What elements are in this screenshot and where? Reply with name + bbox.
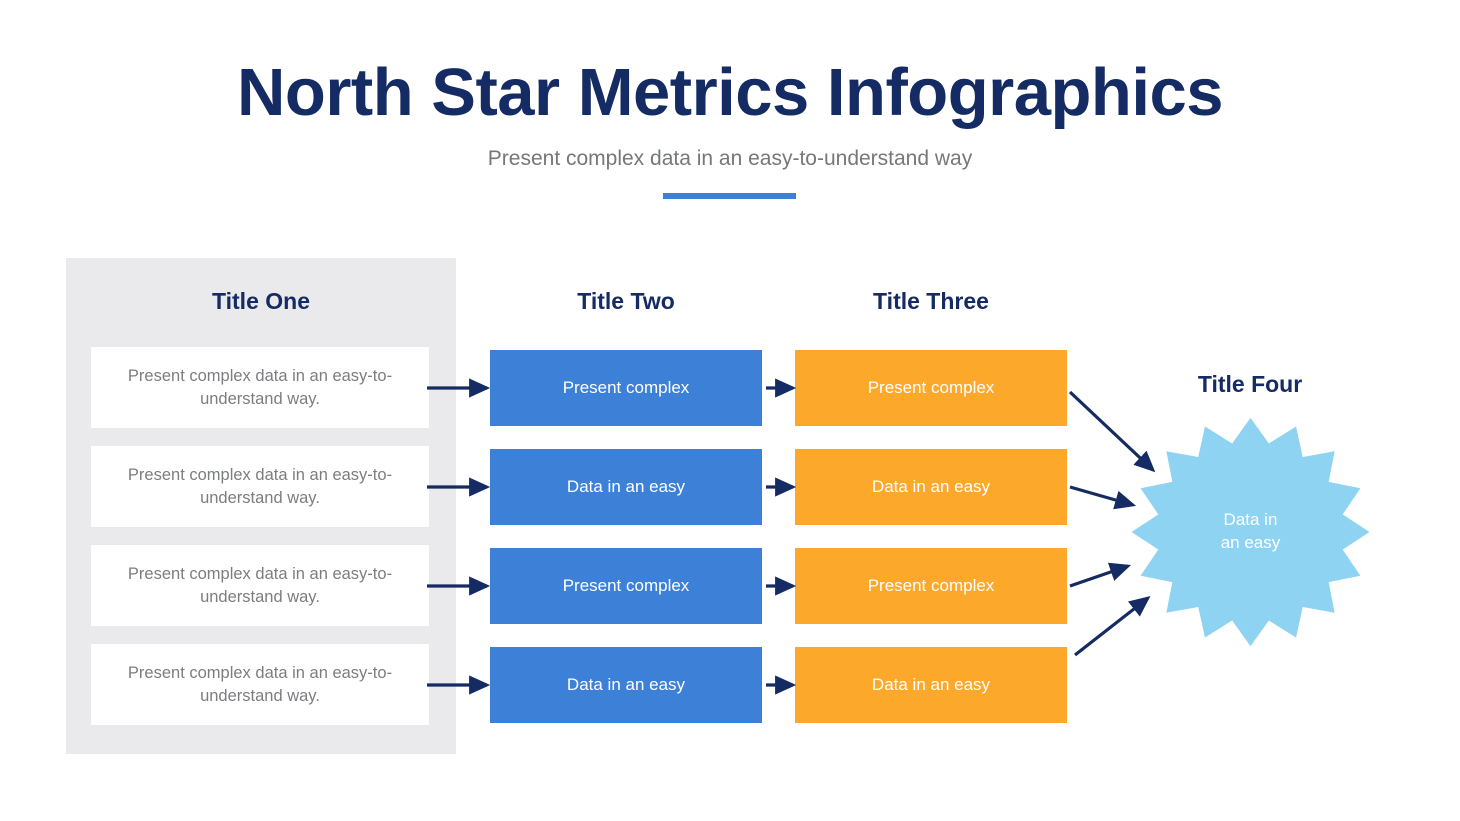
left-card-text: Present complex data in an easy-to-under… — [105, 662, 415, 707]
flow-box-label: Data in an easy — [872, 674, 990, 695]
flow-box-label: Data in an easy — [567, 674, 685, 695]
flow-box-orange[interactable]: Data in an easy — [795, 449, 1067, 525]
list-item[interactable]: Present complex data in an easy-to-under… — [91, 446, 429, 527]
flow-box-label: Present complex — [868, 575, 995, 596]
list-item[interactable]: Present complex data in an easy-to-under… — [91, 347, 429, 428]
starburst-shape[interactable]: Data in an easy — [1129, 418, 1372, 646]
title-accent-bar — [663, 193, 796, 199]
column-heading-one: Title One — [66, 288, 456, 315]
flow-box-label: Present complex — [563, 377, 690, 398]
list-item[interactable]: Present complex data in an easy-to-under… — [91, 545, 429, 626]
flow-box-blue[interactable]: Present complex — [490, 548, 762, 624]
flow-box-label: Present complex — [868, 377, 995, 398]
column-heading-two: Title Two — [490, 288, 762, 315]
left-card-text: Present complex data in an easy-to-under… — [105, 365, 415, 410]
list-item[interactable]: Present complex data in an easy-to-under… — [91, 644, 429, 725]
column-heading-four: Title Four — [1145, 371, 1355, 398]
arrow-orange-to-star-2 — [1070, 487, 1133, 505]
flow-box-orange[interactable]: Data in an easy — [795, 647, 1067, 723]
flow-box-blue[interactable]: Data in an easy — [490, 647, 762, 723]
flow-box-label: Present complex — [563, 575, 690, 596]
page-subtitle: Present complex data in an easy-to-under… — [0, 146, 1460, 171]
starburst-icon — [1129, 418, 1372, 646]
column-heading-three: Title Three — [795, 288, 1067, 315]
flow-box-label: Data in an easy — [567, 476, 685, 497]
left-card-text: Present complex data in an easy-to-under… — [105, 464, 415, 509]
left-card-text: Present complex data in an easy-to-under… — [105, 563, 415, 608]
flow-box-blue[interactable]: Present complex — [490, 350, 762, 426]
infographic-slide: North Star Metrics Infographics Present … — [0, 0, 1460, 821]
page-title: North Star Metrics Infographics — [0, 56, 1460, 130]
flow-box-orange[interactable]: Present complex — [795, 350, 1067, 426]
flow-box-label: Data in an easy — [872, 476, 990, 497]
arrow-orange-to-star-3 — [1070, 566, 1128, 586]
flow-box-blue[interactable]: Data in an easy — [490, 449, 762, 525]
flow-box-orange[interactable]: Present complex — [795, 548, 1067, 624]
